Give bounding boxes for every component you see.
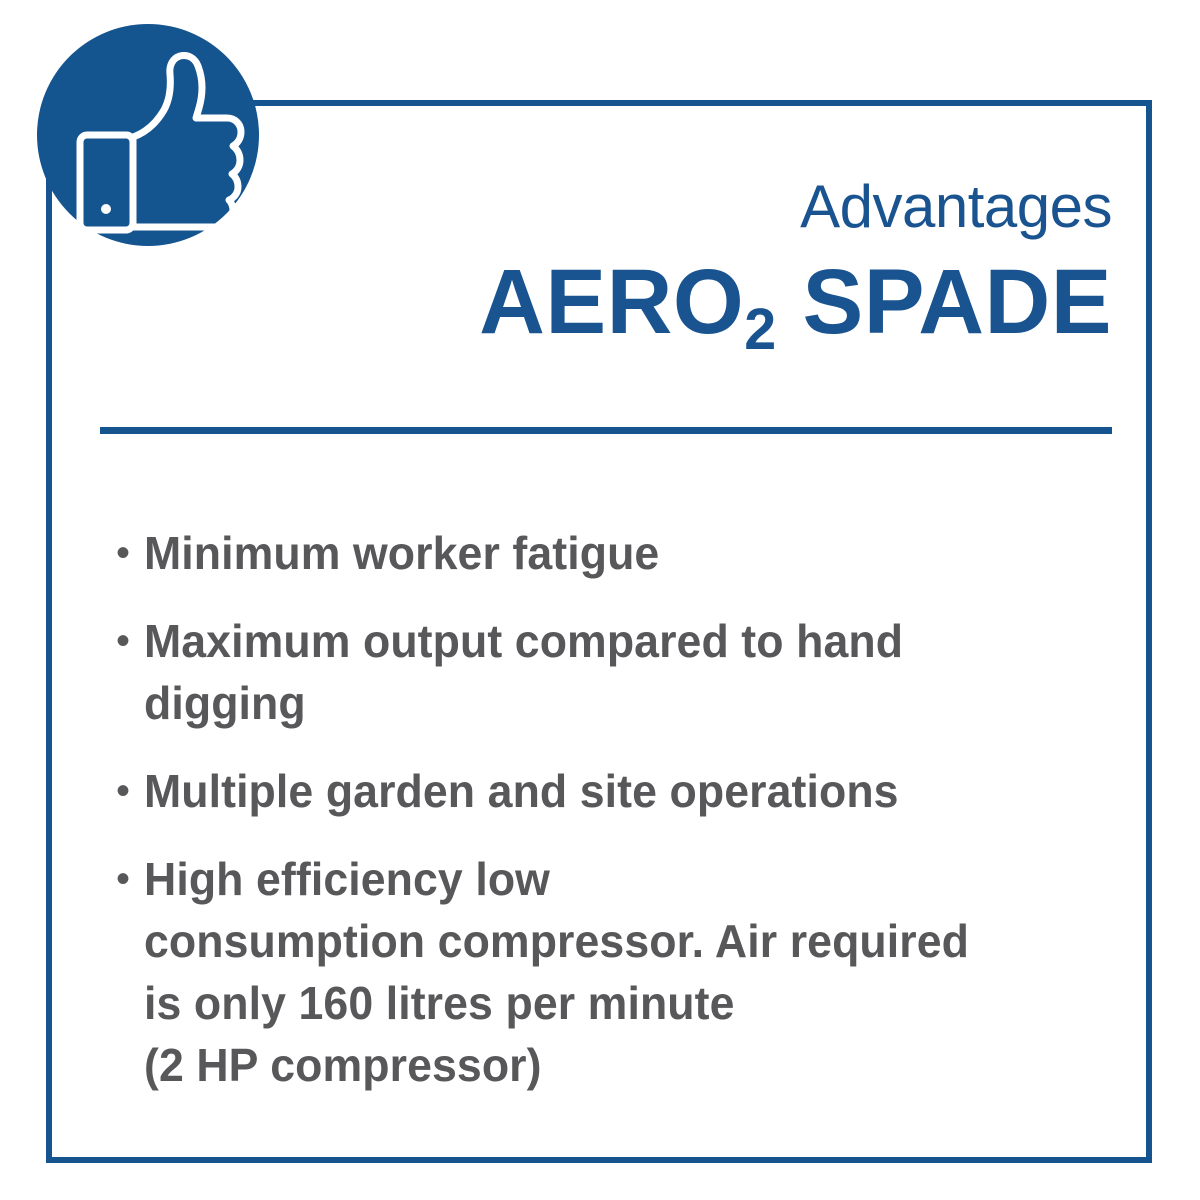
bullet-marker-icon: • bbox=[112, 610, 144, 672]
title-tail: SPADE bbox=[777, 251, 1112, 353]
bullet-marker-icon: • bbox=[112, 848, 144, 910]
page-title: AERO2 SPADE bbox=[110, 256, 1112, 348]
list-item: • Minimum worker fatigue bbox=[112, 522, 1112, 584]
header-block: Advantages AERO2 SPADE bbox=[100, 175, 1112, 348]
list-item-label: Maximum output compared to hand digging bbox=[144, 610, 1083, 734]
list-item-label: High efficiency low consumption compress… bbox=[144, 848, 1083, 1096]
bullet-marker-icon: • bbox=[112, 760, 144, 822]
list-item: • High efficiency low consumption compre… bbox=[112, 848, 1112, 1096]
title-main: AERO bbox=[479, 251, 744, 353]
header-divider bbox=[100, 427, 1112, 434]
advantages-slide: Advantages AERO2 SPADE • Minimum worker … bbox=[0, 0, 1200, 1200]
list-item-label: Minimum worker fatigue bbox=[144, 522, 1083, 584]
list-item: • Maximum output compared to hand diggin… bbox=[112, 610, 1112, 734]
bullet-marker-icon: • bbox=[112, 522, 144, 584]
list-item-label: Multiple garden and site operations bbox=[144, 760, 1083, 822]
title-subscript: 2 bbox=[744, 297, 776, 362]
advantages-list: • Minimum worker fatigue • Maximum outpu… bbox=[112, 522, 1112, 1122]
eyebrow-label: Advantages bbox=[100, 175, 1112, 238]
list-item: • Multiple garden and site operations bbox=[112, 760, 1112, 822]
